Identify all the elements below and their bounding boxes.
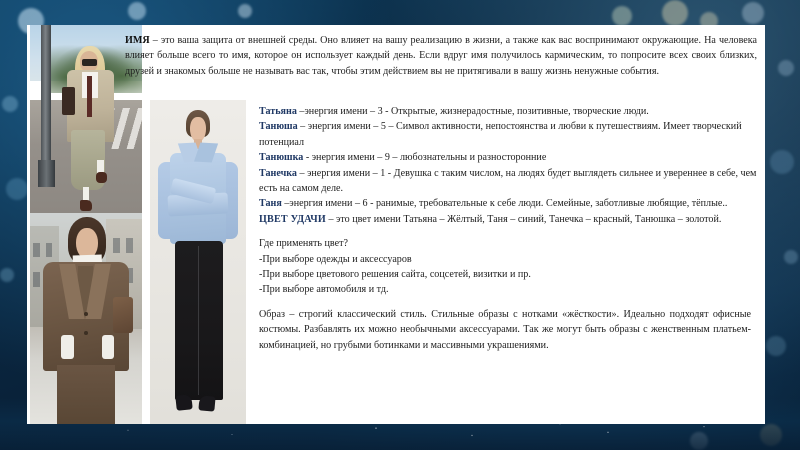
spacer — [259, 298, 759, 307]
name-description: - энергия имени – 9 – любознательны и ра… — [303, 152, 546, 163]
name-description: – энергия имени – 1 - Девушка с таким чи… — [259, 168, 756, 194]
intro-paragraph: ИМЯ – это ваша защита от внешней среды. … — [125, 33, 757, 79]
bokeh-light — [778, 60, 794, 76]
intro-lead-word: ИМЯ — [125, 35, 150, 46]
bokeh-light — [612, 6, 632, 26]
bokeh-light — [238, 4, 252, 18]
name-label: Танюша — [259, 121, 298, 132]
photo-blue-shirt — [150, 100, 246, 424]
luck-color-row: ЦВЕТ УДАЧИ – это цвет имени Татьяна – Жё… — [259, 212, 759, 227]
intro-body-text: – это ваша защита от внешней среды. Оно … — [125, 35, 757, 77]
bokeh-light — [760, 424, 782, 446]
bokeh-light — [128, 2, 146, 20]
luck-color-header: ЦВЕТ УДАЧИ — [259, 214, 326, 225]
name-meaning-row: Танюшка - энергия имени – 9 – любознател… — [259, 150, 759, 165]
where-to-use-item: -При выборе автомобиля и тд. — [259, 282, 759, 297]
name-label: Танечка — [259, 168, 297, 179]
name-meaning-row: Танечка – энергия имени – 1 - Девушка с … — [259, 166, 759, 197]
photo-brown-suit — [30, 213, 142, 424]
slide-canvas: ИМЯ – это ваша защита от внешней среды. … — [0, 0, 800, 450]
bokeh-light — [690, 432, 708, 450]
luck-color-text: – это цвет имени Татьяна – Жёлтый, Таня … — [326, 214, 721, 225]
where-to-use-question: Где применять цвет? — [259, 236, 759, 251]
where-to-use-item: -При выборе цветового решения сайта, соц… — [259, 267, 759, 282]
bokeh-light — [0, 268, 14, 282]
where-to-use-item: -При выборе одежды и аксессуаров — [259, 252, 759, 267]
bokeh-light — [2, 96, 18, 112]
name-label: Таня — [259, 198, 282, 209]
name-meaning-row: Таня –энергия имени – 6 - ранимые, требо… — [259, 196, 759, 211]
bokeh-light — [742, 2, 764, 24]
bokeh-light — [6, 178, 28, 200]
name-description: –энергия имени – 6 - ранимые, требовател… — [282, 198, 728, 209]
bokeh-light — [784, 250, 798, 264]
name-description: –энергия имени – 3 - Открытые, жизнерадо… — [297, 106, 649, 117]
closing-paragraph: Образ – строгий классический стиль. Стил… — [259, 307, 751, 353]
bokeh-light — [766, 336, 786, 356]
content-card: ИМЯ – это ваша защита от внешней среды. … — [27, 25, 765, 424]
body-column: Татьяна –энергия имени – 3 - Открытые, ж… — [259, 104, 759, 353]
name-label: Татьяна — [259, 106, 297, 117]
spacer — [259, 227, 759, 236]
name-meaning-row: Татьяна –энергия имени – 3 - Открытые, ж… — [259, 104, 759, 119]
bokeh-light — [770, 150, 794, 174]
bokeh-light — [662, 0, 688, 26]
name-label: Танюшка — [259, 152, 303, 163]
name-meaning-row: Танюша – энергия имени – 5 – Символ акти… — [259, 119, 759, 150]
name-description: – энергия имени – 5 – Символ активности,… — [259, 121, 742, 147]
